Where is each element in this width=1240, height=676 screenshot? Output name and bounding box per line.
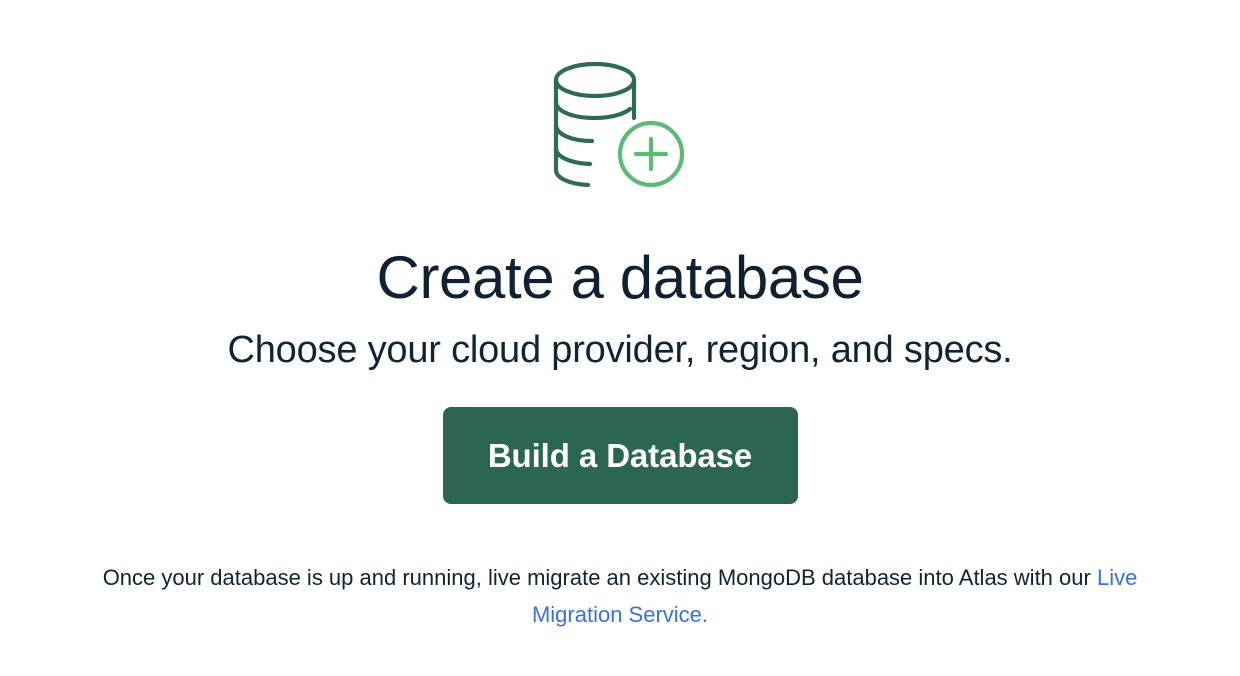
live-migration-note-text: Once your database is up and running, li… [103, 565, 1097, 590]
live-migration-note: Once your database is up and running, li… [100, 560, 1140, 634]
create-database-empty-state: Create a database Choose your cloud prov… [0, 0, 1240, 676]
build-a-database-button[interactable]: Build a Database [443, 407, 798, 504]
database-plus-icon [550, 58, 690, 190]
plus-circle-icon [620, 123, 682, 185]
page-subtitle: Choose your cloud provider, region, and … [227, 329, 1012, 372]
page-title: Create a database [377, 246, 864, 311]
